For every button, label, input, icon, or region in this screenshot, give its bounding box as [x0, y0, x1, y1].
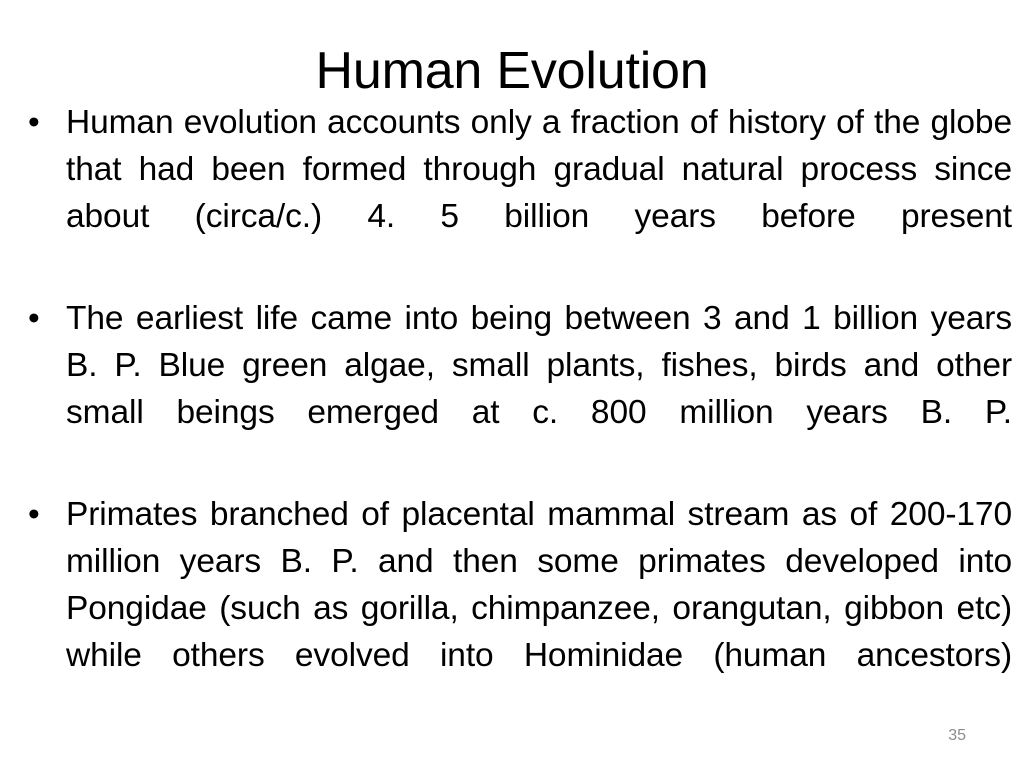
bullet-point-icon: • [28, 491, 52, 538]
bullet-point-icon: • [28, 295, 52, 342]
bullet-point-icon: • [28, 99, 52, 146]
page-title: Human Evolution [0, 42, 1024, 100]
list-item: • Primates branched of placental mammal … [22, 491, 1012, 726]
list-item: • Human evolution accounts only a fracti… [22, 99, 1012, 287]
presentation-slide: Human Evolution • Human evolution accoun… [0, 0, 1024, 768]
list-item-text: Primates branched of placental mammal st… [66, 491, 1012, 726]
list-item: • The earliest life came into being betw… [22, 295, 1012, 483]
list-item-text: The earliest life came into being betwee… [66, 295, 1012, 483]
list-item-text: Human evolution accounts only a fraction… [66, 99, 1012, 287]
slide-body-content: • Human evolution accounts only a fracti… [22, 99, 1012, 726]
slide-number: 35 [948, 726, 966, 746]
